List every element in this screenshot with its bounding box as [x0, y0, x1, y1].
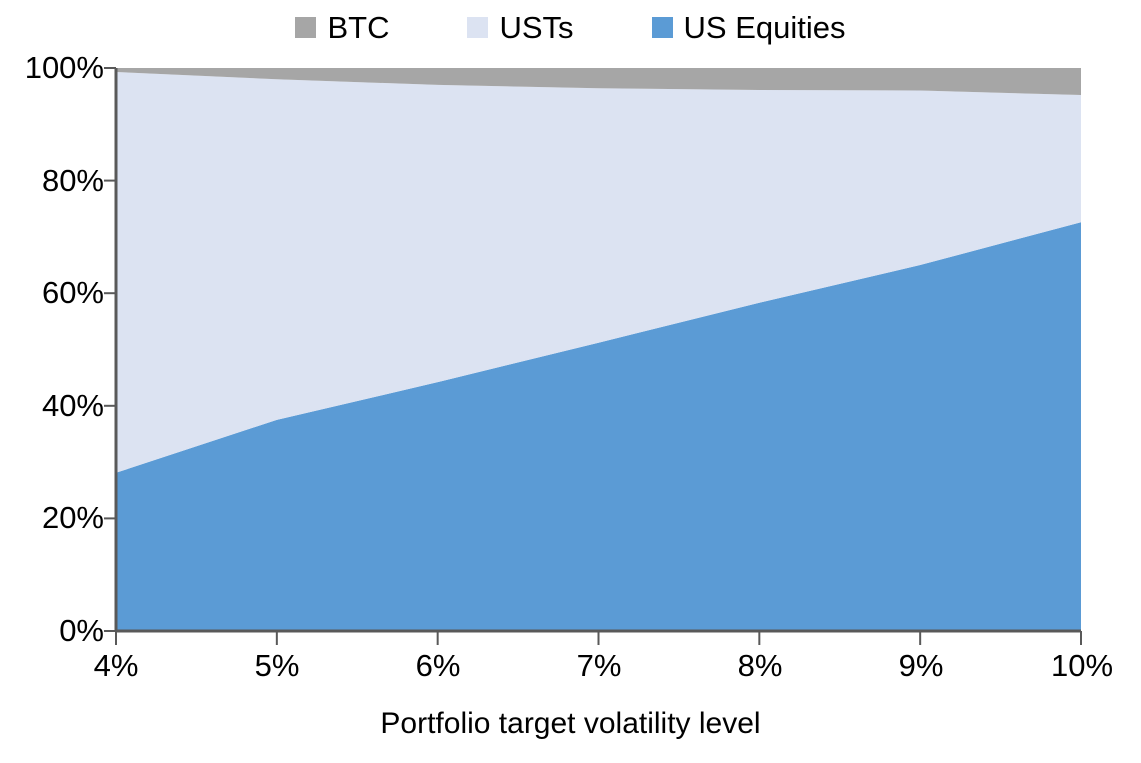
chart-plot-svg: [0, 0, 1141, 763]
x-tick-label-7: 7%: [539, 650, 659, 681]
y-tick-label-100: 100%: [0, 52, 104, 83]
y-tick-label-20: 20%: [0, 502, 104, 533]
x-tick-label-4: 4%: [56, 650, 176, 681]
x-tick-label-9: 9%: [861, 650, 981, 681]
chart-series-areas: [116, 68, 1081, 631]
y-tick-label-80: 80%: [0, 165, 104, 196]
x-tick-label-10: 10%: [1022, 650, 1141, 681]
stacked-area-chart: 0% 20% 40% 60% 80% 100% 4% 5% 6% 7% 8% 9…: [0, 0, 1141, 763]
x-tick-label-5: 5%: [217, 650, 337, 681]
x-tick-label-6: 6%: [378, 650, 498, 681]
x-axis-title: Portfolio target volatility level: [0, 708, 1141, 740]
y-tick-label-0: 0%: [0, 615, 104, 646]
y-tick-label-40: 40%: [0, 390, 104, 421]
x-tick-label-8: 8%: [700, 650, 820, 681]
y-tick-label-60: 60%: [0, 277, 104, 308]
